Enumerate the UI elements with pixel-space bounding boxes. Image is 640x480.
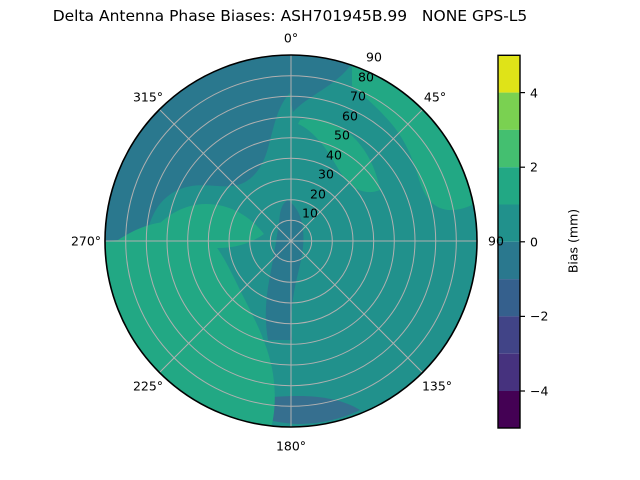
radial-tick-10: 10	[302, 206, 318, 221]
colorbar-tick-minus2: −2	[530, 309, 548, 324]
angular-tick-315: 315°	[133, 90, 163, 105]
radial-tick-50: 50	[334, 128, 350, 143]
radial-tick-30: 30	[318, 167, 334, 182]
colorbar-axis-label: Bias (mm)	[566, 209, 581, 273]
angular-tick-225: 225°	[133, 379, 163, 394]
figure-canvas: Delta Antenna Phase Biases: ASH701945B.9…	[0, 0, 640, 480]
colorbar-tick-2: 2	[530, 160, 538, 175]
radial-tick-20: 20	[310, 187, 326, 202]
angular-tick-135: 135°	[422, 379, 452, 394]
radial-tick-70: 70	[350, 89, 366, 104]
colorbar-tick-0: 0	[530, 234, 538, 249]
colorbar-tick-minus4: −4	[530, 384, 548, 399]
radial-tick-90: 90	[366, 50, 382, 65]
angular-tick-180: 180°	[276, 439, 306, 454]
polar-grid-spokes	[105, 55, 477, 427]
radial-tick-80: 80	[358, 70, 374, 85]
colorbar-tick-4: 4	[530, 85, 538, 100]
angular-tick-0: 0°	[284, 31, 298, 46]
radial-tick-40: 40	[326, 148, 342, 163]
angular-tick-45: 45°	[424, 90, 446, 105]
colorbar-ticks	[520, 93, 525, 391]
radial-tick-60: 60	[342, 109, 358, 124]
angular-tick-90: 90	[488, 234, 504, 249]
angular-tick-270: 270°	[71, 234, 101, 249]
